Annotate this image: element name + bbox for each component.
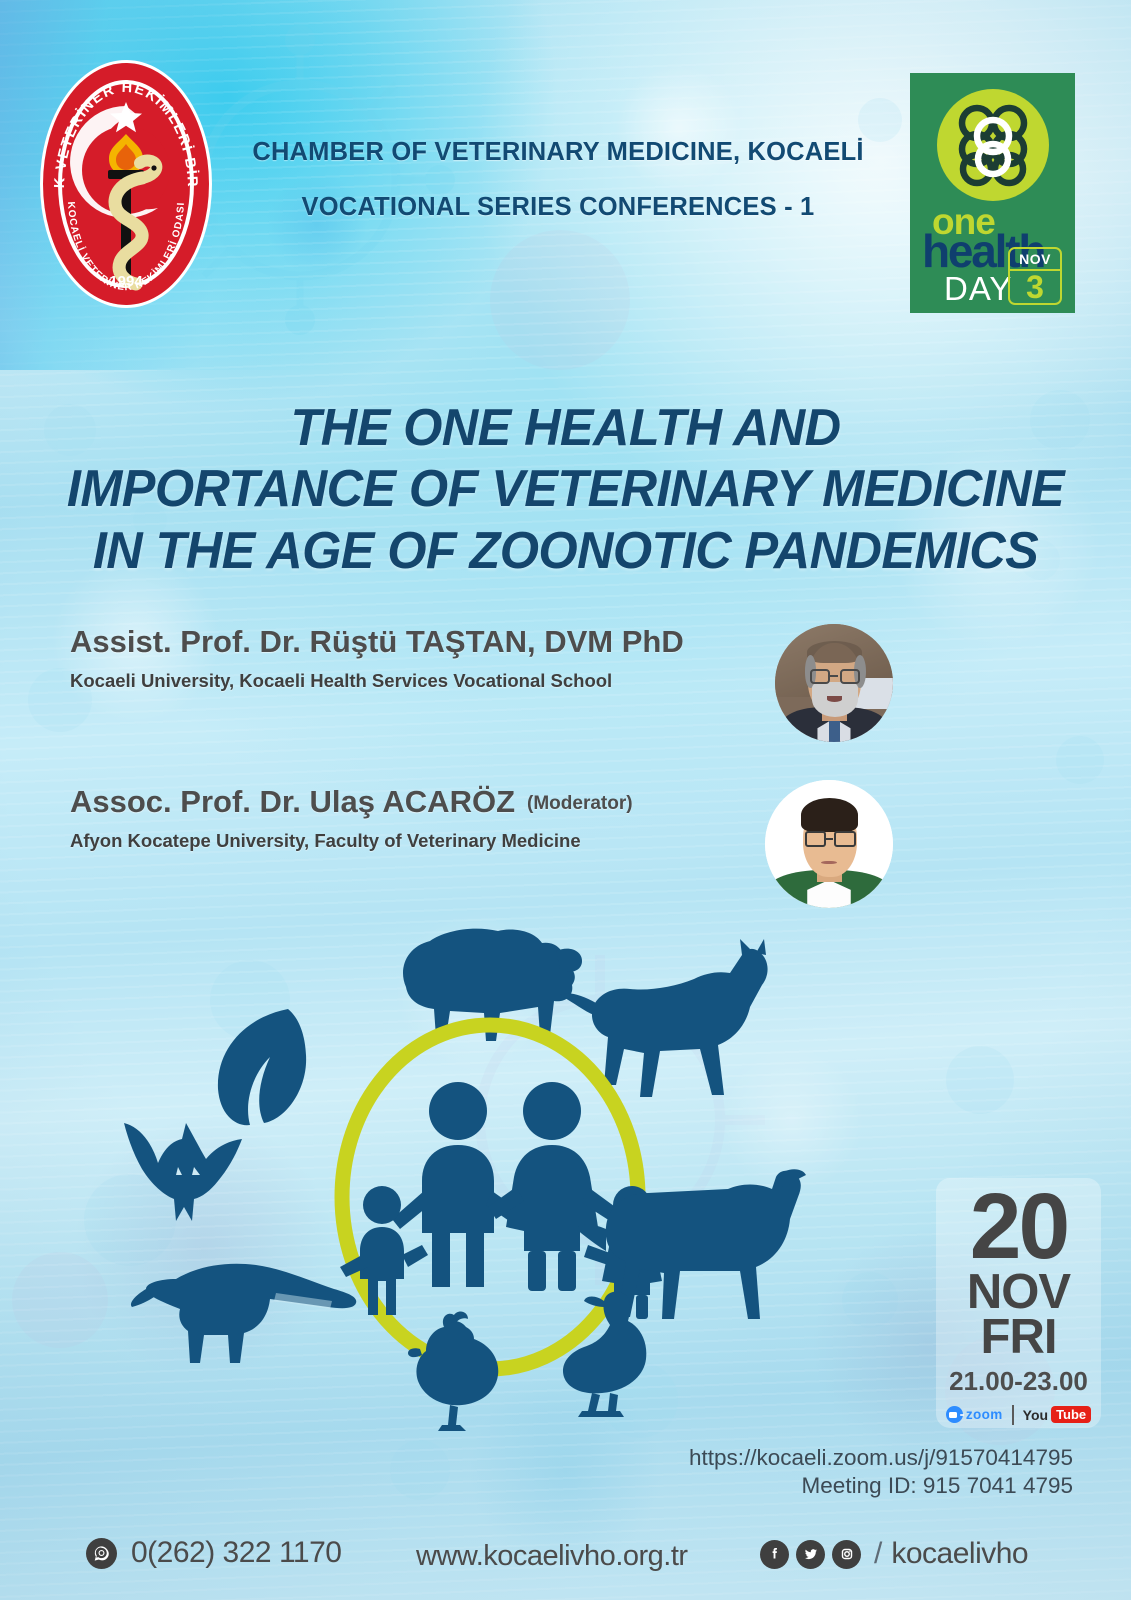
calendar-day-label: 3	[1010, 271, 1060, 305]
speaker-photo	[775, 624, 893, 742]
one-health-emblem-icon	[937, 89, 1049, 201]
title-line-2: IMPORTANCE OF VETERINARY MEDICINE	[17, 459, 1114, 520]
header-title-block: CHAMBER OF VETERINARY MEDICINE, KOCAELİ …	[222, 140, 894, 220]
instagram-icon[interactable]	[832, 1540, 861, 1569]
speaker-affiliation: Kocaeli University, Kocaeli Health Servi…	[70, 670, 612, 692]
social-handle[interactable]: kocaelivho	[891, 1537, 1028, 1571]
platform-divider	[1012, 1405, 1014, 1425]
speaker-item: Assoc. Prof. Dr. Ulaş ACARÖZ(Moderator) …	[0, 770, 1131, 930]
speaker-affiliation: Afyon Kocatepe University, Faculty of Ve…	[70, 830, 581, 852]
meeting-info: https://kocaeli.zoom.us/j/91570414795 Me…	[689, 1444, 1073, 1500]
calendar-month-label: NOV	[1010, 249, 1060, 271]
title-line-3: IN THE AGE OF ZOONOTIC PANDEMICS	[17, 521, 1114, 582]
leaf-icon	[218, 1009, 306, 1125]
whatsapp-icon	[86, 1538, 117, 1569]
meeting-id: Meeting ID: 915 7041 4795	[689, 1472, 1073, 1500]
event-month: NOV	[936, 1270, 1101, 1315]
phone-group: 0(262) 322 1170	[86, 1536, 341, 1570]
duck-icon	[563, 1292, 646, 1417]
poster-footer: 0(262) 322 1170 www.kocaelivho.org.tr	[0, 1524, 1131, 1586]
event-time: 21.00-23.00	[936, 1366, 1101, 1397]
zoom-label: zoom	[966, 1407, 1003, 1422]
title-line-1: THE ONE HEALTH AND	[17, 398, 1114, 459]
bat-icon	[124, 1123, 242, 1221]
header-line-2: VOCATIONAL SERIES CONFERENCES - 1	[222, 195, 894, 221]
youtube-label-you: You	[1023, 1407, 1048, 1423]
one-health-calendar-badge: NOV 3	[1008, 247, 1062, 305]
speaker-name-text: Assoc. Prof. Dr. Ulaş ACARÖZ	[70, 784, 515, 819]
social-separator: /	[874, 1537, 882, 1571]
speaker-name: Assoc. Prof. Dr. Ulaş ACARÖZ(Moderator)	[70, 784, 633, 820]
event-day: 20	[936, 1178, 1101, 1270]
speaker-photo	[765, 780, 893, 908]
poster-title: THE ONE HEALTH AND IMPORTANCE OF VETERIN…	[0, 398, 1131, 582]
zoom-badge[interactable]: zoom	[946, 1406, 1003, 1423]
platform-badges: zoom You Tube	[936, 1405, 1101, 1425]
chicken-icon	[408, 1312, 498, 1431]
event-date-card: 20 NOV FRI 21.00-23.00 zoom You Tube	[936, 1178, 1101, 1428]
poster-header: 1994 TÜRK VETERİNER HEKİMLERİ BİRLİĞİ KO…	[0, 0, 1131, 330]
speaker-role: (Moderator)	[515, 793, 633, 814]
speaker-list: Assist. Prof. Dr. Rüştü TAŞTAN, DVM PhD …	[0, 610, 1131, 930]
speaker-item: Assist. Prof. Dr. Rüştü TAŞTAN, DVM PhD …	[0, 610, 1131, 770]
zoom-camera-icon	[946, 1406, 963, 1423]
event-weekday: FRI	[936, 1315, 1101, 1360]
facebook-icon[interactable]	[760, 1540, 789, 1569]
one-health-word-day: DAY	[944, 272, 1012, 305]
one-health-animal-graphic	[120, 915, 860, 1435]
speaker-name: Assist. Prof. Dr. Rüştü TAŞTAN, DVM PhD	[70, 624, 684, 660]
social-group: / kocaelivho	[760, 1537, 1028, 1571]
poster-root: 1994 TÜRK VETERİNER HEKİMLERİ BİRLİĞİ KO…	[0, 0, 1131, 1600]
one-health-day-logo: one health DAY NOV 3	[910, 73, 1075, 313]
youtube-label-tube: Tube	[1051, 1406, 1091, 1423]
youtube-badge[interactable]: You Tube	[1023, 1406, 1092, 1423]
website-url[interactable]: www.kocaelivho.org.tr	[416, 1540, 688, 1573]
twitter-icon[interactable]	[796, 1540, 825, 1569]
meeting-url[interactable]: https://kocaeli.zoom.us/j/91570414795	[689, 1444, 1073, 1472]
anteater-icon	[131, 1264, 356, 1363]
veterinary-association-logo: 1994 TÜRK VETERİNER HEKİMLERİ BİRLİĞİ KO…	[38, 58, 214, 310]
header-line-1: CHAMBER OF VETERINARY MEDICINE, KOCAELİ	[222, 140, 894, 166]
phone-number[interactable]: 0(262) 322 1170	[131, 1536, 341, 1570]
